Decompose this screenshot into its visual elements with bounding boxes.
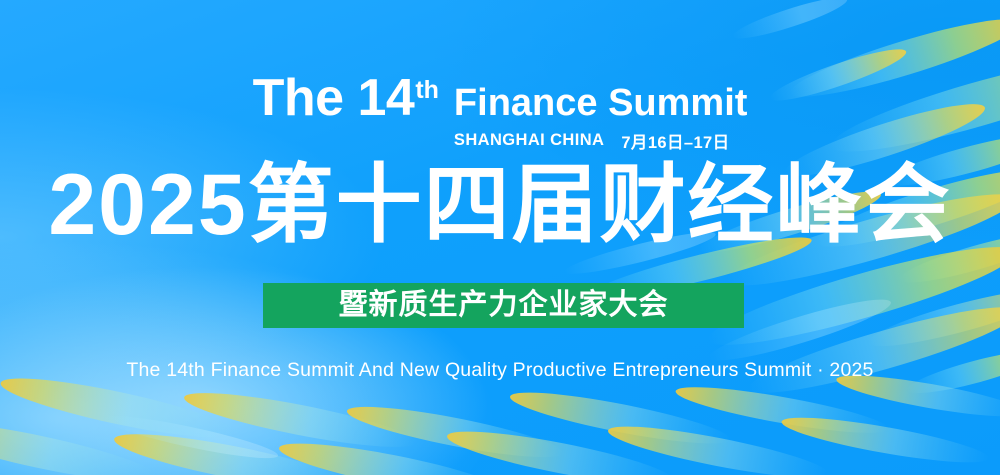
edition-number: The 14 — [253, 72, 415, 124]
event-name: Finance Summit — [454, 84, 748, 124]
conference-poster: The 14th Finance Summit SHANGHAI CHINA 7… — [0, 0, 1000, 475]
ordinal-suffix: th — [415, 76, 439, 105]
subtitle-banner: 暨新质生产力企业家大会 — [263, 283, 744, 328]
poster-content: The 14th Finance Summit SHANGHAI CHINA 7… — [0, 0, 1000, 475]
event-date: 7月16日–17日 — [621, 129, 729, 153]
english-headline: The 14th Finance Summit SHANGHAI CHINA 7… — [0, 72, 1000, 153]
subtitle-banner-text: 暨新质生产力企业家大会 — [338, 291, 668, 320]
page-title: 2025第十四届财经峰会 — [0, 162, 1000, 248]
headline-right-column: Finance Summit SHANGHAI CHINA 7月16日–17日 — [454, 84, 748, 153]
headline-inner: The 14th Finance Summit SHANGHAI CHINA 7… — [253, 72, 748, 153]
footer-tagline: The 14th Finance Summit And New Quality … — [0, 359, 1000, 382]
event-meta-row: SHANGHAI CHINA 7月16日–17日 — [454, 129, 730, 153]
event-city: SHANGHAI CHINA — [454, 131, 604, 150]
